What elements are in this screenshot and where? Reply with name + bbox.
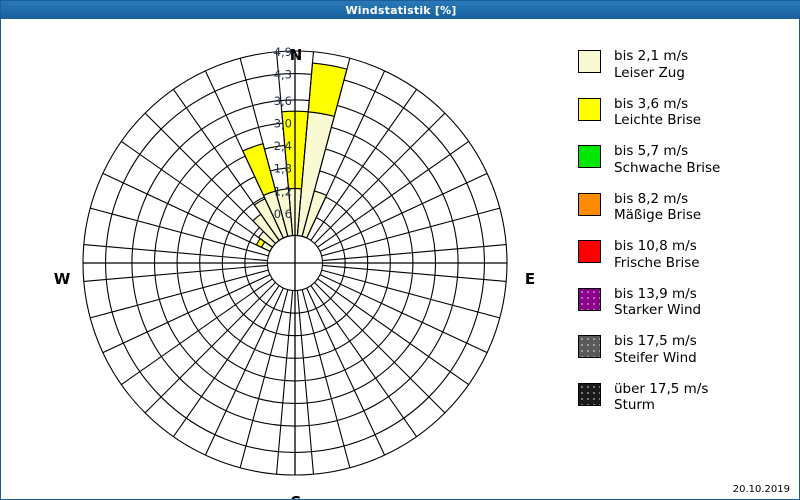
legend-item-text: bis 3,6 m/sLeichte Brise	[614, 96, 701, 129]
legend: bis 2,1 m/sLeiser Zugbis 3,6 m/sLeichte …	[566, 20, 799, 499]
legend-color-swatch	[578, 98, 601, 121]
radial-tick-label: 1,8	[274, 162, 292, 176]
compass-label-north: N	[266, 46, 326, 64]
radial-tick-label: 3,0	[274, 117, 292, 131]
radial-tick-label: 3,6	[274, 94, 292, 108]
wind-rose-svg: 0,61,21,82,43,03,64,34,9	[2, 20, 562, 499]
legend-item-text: bis 10,8 m/sFrische Brise	[614, 238, 700, 271]
legend-name-label: Sturm	[614, 397, 708, 414]
wind-statistics-window: Windstatistik [%] 0,61,21,82,43,03,64,34…	[0, 0, 800, 500]
legend-item[interactable]: über 17,5 m/sSturm	[578, 381, 708, 414]
legend-item[interactable]: bis 10,8 m/sFrische Brise	[578, 238, 700, 271]
legend-name-label: Mäßige Brise	[614, 207, 701, 224]
wind-rose-chart: 0,61,21,82,43,03,64,34,9 N S W E	[2, 20, 562, 499]
legend-item-text: bis 5,7 m/sSchwache Brise	[614, 143, 720, 176]
legend-speed-label: bis 17,5 m/s	[614, 333, 697, 349]
polar-spokes	[83, 51, 507, 475]
compass-label-south: S	[266, 493, 326, 499]
legend-item[interactable]: bis 8,2 m/sMäßige Brise	[578, 191, 701, 224]
legend-item[interactable]: bis 2,1 m/sLeiser Zug	[578, 48, 688, 81]
legend-name-label: Starker Wind	[614, 302, 701, 319]
legend-color-swatch	[578, 145, 601, 168]
radial-tick-label: 1,2	[274, 184, 292, 198]
legend-name-label: Schwache Brise	[614, 160, 720, 177]
legend-item[interactable]: bis 17,5 m/sSteifer Wind	[578, 333, 697, 366]
date-stamp: 20.10.2019	[733, 484, 790, 495]
legend-speed-label: bis 3,6 m/s	[614, 96, 688, 112]
radial-tick-label: 0,6	[274, 207, 292, 221]
window-title-bar: Windstatistik [%]	[1, 1, 800, 19]
compass-label-west: W	[32, 270, 92, 288]
window-title: Windstatistik [%]	[345, 4, 456, 17]
legend-speed-label: bis 5,7 m/s	[614, 143, 688, 159]
legend-color-swatch	[578, 193, 601, 216]
legend-speed-label: über 17,5 m/s	[614, 381, 708, 397]
legend-item-text: bis 8,2 m/sMäßige Brise	[614, 191, 701, 224]
legend-name-label: Frische Brise	[614, 255, 700, 272]
legend-color-swatch	[578, 288, 601, 311]
radial-tick-label: 4,3	[274, 68, 292, 82]
legend-speed-label: bis 13,9 m/s	[614, 286, 697, 302]
legend-item-text: über 17,5 m/sSturm	[614, 381, 708, 414]
legend-item-text: bis 13,9 m/sStarker Wind	[614, 286, 701, 319]
compass-label-east: E	[500, 270, 560, 288]
legend-item[interactable]: bis 3,6 m/sLeichte Brise	[578, 96, 701, 129]
legend-name-label: Leichte Brise	[614, 112, 701, 129]
legend-item[interactable]: bis 13,9 m/sStarker Wind	[578, 286, 701, 319]
legend-name-label: Steifer Wind	[614, 350, 697, 367]
legend-item-text: bis 2,1 m/sLeiser Zug	[614, 48, 688, 81]
legend-speed-label: bis 2,1 m/s	[614, 48, 688, 64]
legend-color-swatch	[578, 240, 601, 263]
legend-color-swatch	[578, 50, 601, 73]
legend-color-swatch	[578, 335, 601, 358]
legend-color-swatch	[578, 383, 601, 406]
legend-speed-label: bis 8,2 m/s	[614, 191, 688, 207]
legend-item[interactable]: bis 5,7 m/sSchwache Brise	[578, 143, 720, 176]
legend-item-text: bis 17,5 m/sSteifer Wind	[614, 333, 697, 366]
radial-tick-label: 2,4	[274, 139, 292, 153]
legend-name-label: Leiser Zug	[614, 65, 688, 82]
legend-speed-label: bis 10,8 m/s	[614, 238, 697, 254]
